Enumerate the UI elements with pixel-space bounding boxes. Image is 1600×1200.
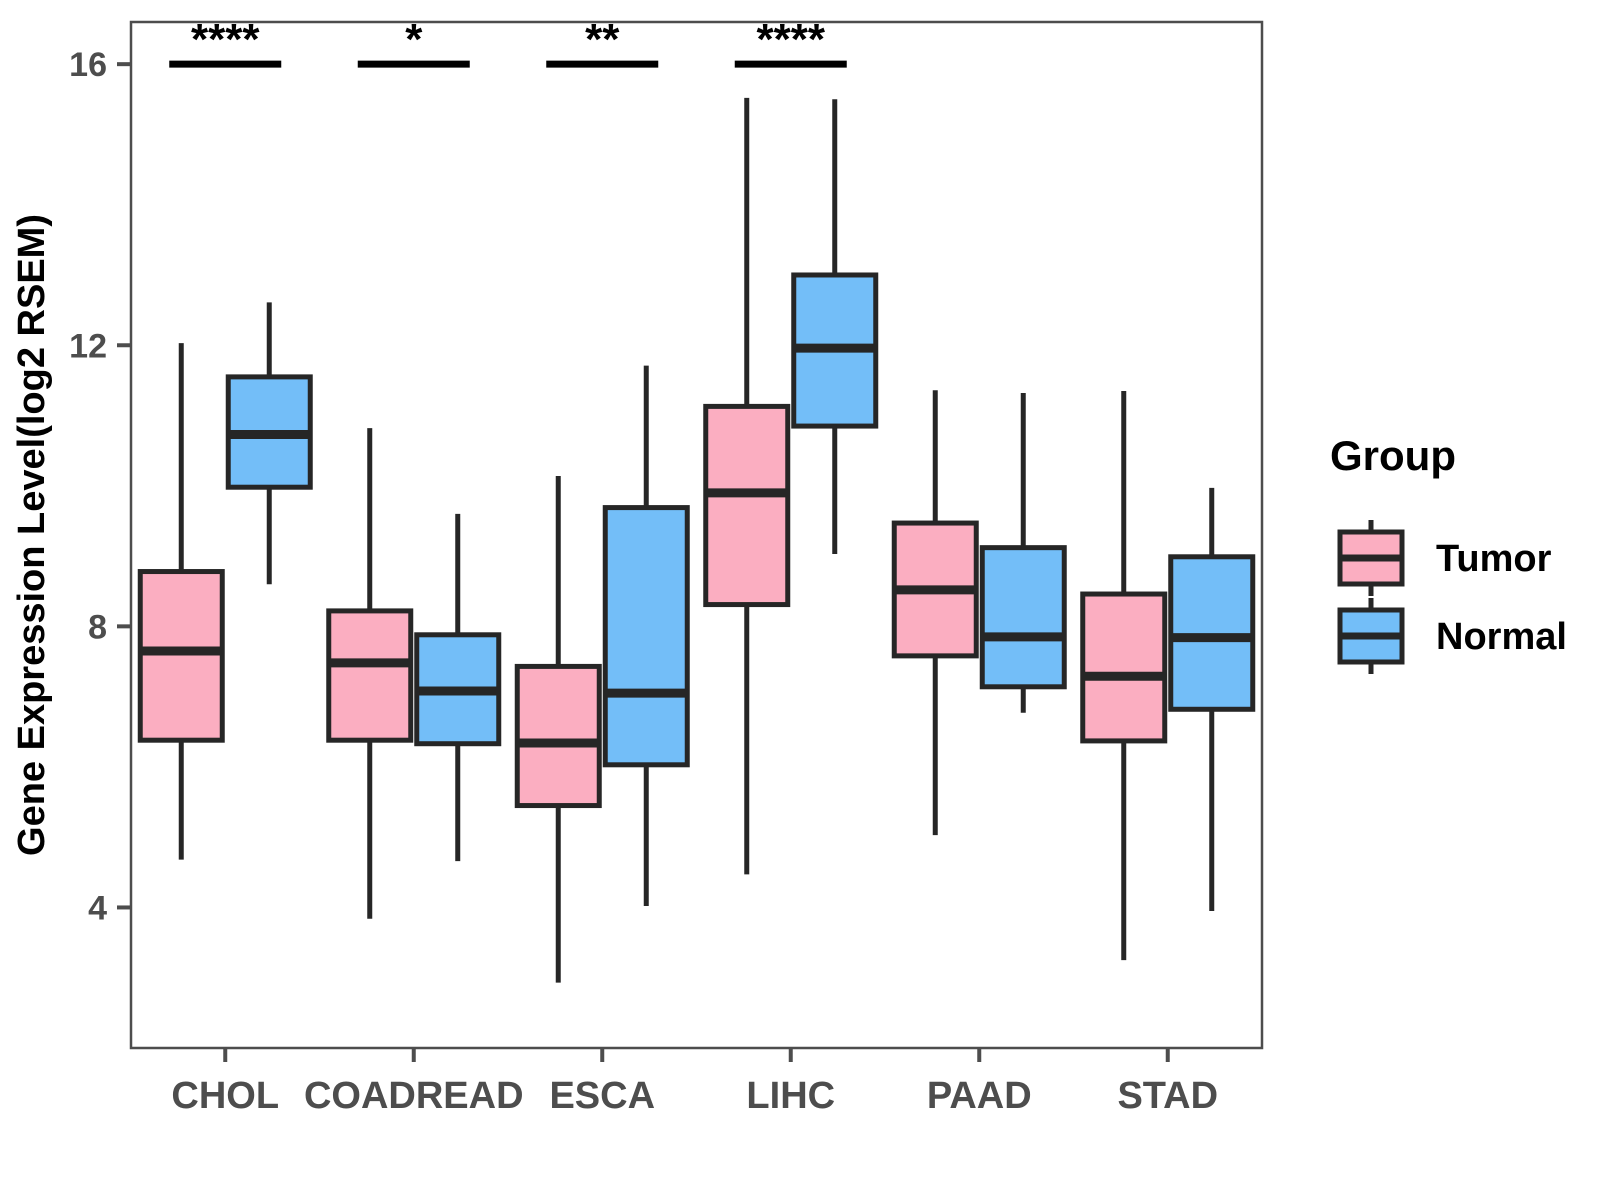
x-axis-tick-label: LIHC xyxy=(746,1075,835,1117)
box-rect xyxy=(605,508,687,765)
plot-panel xyxy=(131,22,1262,1048)
significance-label: **** xyxy=(191,15,260,64)
chart-canvas: 481216Gene Expression Level(log2 RSEM)CH… xyxy=(0,0,1600,1200)
x-axis-tick-label: STAD xyxy=(1117,1075,1218,1117)
significance-label: ** xyxy=(585,15,620,64)
y-axis-tick-label: 12 xyxy=(69,327,107,365)
box-rect xyxy=(140,572,222,741)
box-rect xyxy=(517,666,599,805)
y-axis-title: Gene Expression Level(log2 RSEM) xyxy=(11,214,53,856)
box-rect xyxy=(1083,594,1165,741)
box-rect xyxy=(1171,557,1253,709)
legend-item-tumor[interactable]: Tumor xyxy=(1340,520,1552,596)
y-axis-tick-label: 8 xyxy=(88,608,107,646)
legend-item-label: Tumor xyxy=(1436,538,1552,580)
box-rect xyxy=(982,548,1064,687)
legend-item-normal[interactable]: Normal xyxy=(1340,598,1567,674)
significance-label: **** xyxy=(757,15,826,64)
y-axis-tick-label: 4 xyxy=(88,889,107,927)
legend-item-label: Normal xyxy=(1436,616,1567,658)
box-rect xyxy=(329,611,411,740)
x-axis-tick-label: ESCA xyxy=(549,1075,655,1117)
box-rect xyxy=(706,406,788,604)
x-axis-tick-label: PAAD xyxy=(927,1075,1032,1117)
x-axis-tick-label: CHOL xyxy=(171,1075,279,1117)
boxplot-figure: 481216Gene Expression Level(log2 RSEM)CH… xyxy=(0,0,1600,1200)
x-axis-tick-label: COADREAD xyxy=(304,1075,524,1117)
significance-label: * xyxy=(405,15,423,64)
legend-title: Group xyxy=(1330,432,1456,479)
y-axis-tick-label: 16 xyxy=(69,46,107,84)
